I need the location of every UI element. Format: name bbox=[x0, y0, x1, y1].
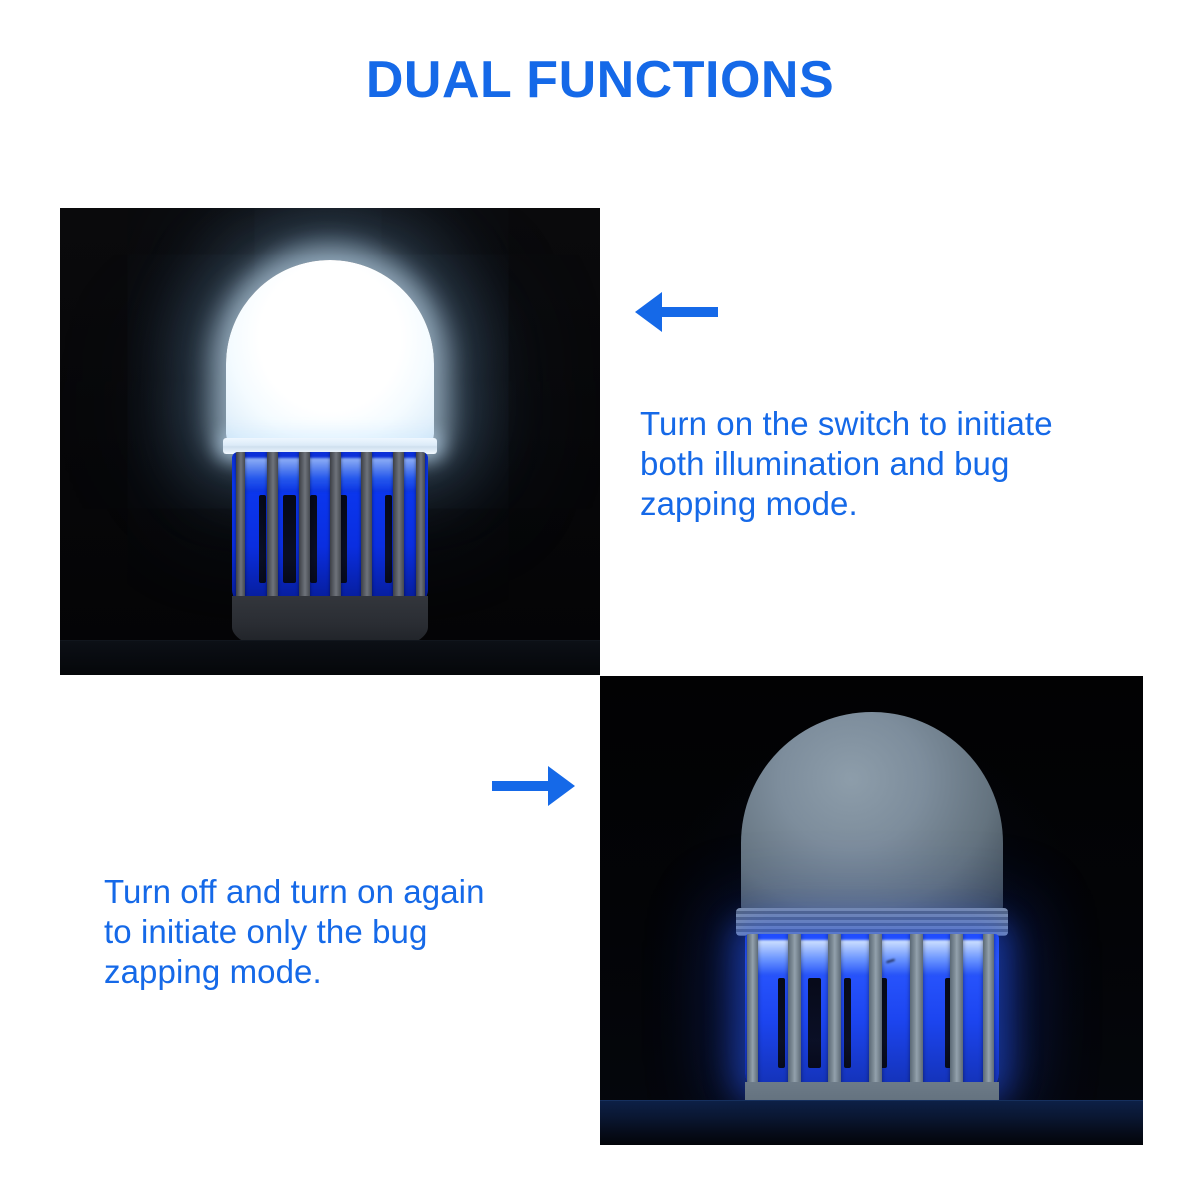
caption-line: Turn off and turn on again bbox=[104, 872, 574, 912]
photo-floor-surface bbox=[60, 640, 600, 675]
uv-zapper-cage bbox=[745, 934, 999, 1090]
uv-zapper-cage bbox=[232, 452, 428, 604]
cage-ribs bbox=[745, 934, 999, 1090]
caption-line: to initiate only the bug bbox=[104, 912, 574, 952]
bug-zapper-bulb-unlit-dome bbox=[722, 712, 1022, 1136]
caption-illumination-and-zap: Turn on the switch to initiate both illu… bbox=[640, 404, 1150, 524]
right-arrow-icon bbox=[492, 762, 578, 810]
bulb-dome-glowing bbox=[226, 260, 434, 446]
caption-line: Turn on the switch to initiate bbox=[640, 404, 1150, 444]
photo-floor-surface bbox=[600, 1100, 1143, 1145]
bulb-dome-unlit bbox=[741, 712, 1003, 922]
caption-line: zapping mode. bbox=[640, 484, 1150, 524]
cage-ribs bbox=[232, 452, 428, 604]
caption-line: both illumination and bug bbox=[640, 444, 1150, 484]
page-title: DUAL FUNCTIONS bbox=[0, 52, 1200, 109]
product-photo-zap-only bbox=[600, 676, 1143, 1145]
product-photo-illumination-and-zap bbox=[60, 208, 600, 675]
bug-zapper-bulb-lit bbox=[214, 260, 446, 650]
caption-line: zapping mode. bbox=[104, 952, 574, 992]
photo-scene-dark-background bbox=[60, 208, 600, 675]
left-arrow-icon bbox=[632, 288, 718, 336]
bulb-dome-rings bbox=[736, 908, 1008, 936]
photo-scene-dark-background bbox=[600, 676, 1143, 1145]
caption-zap-only: Turn off and turn on again to initiate o… bbox=[104, 872, 574, 992]
